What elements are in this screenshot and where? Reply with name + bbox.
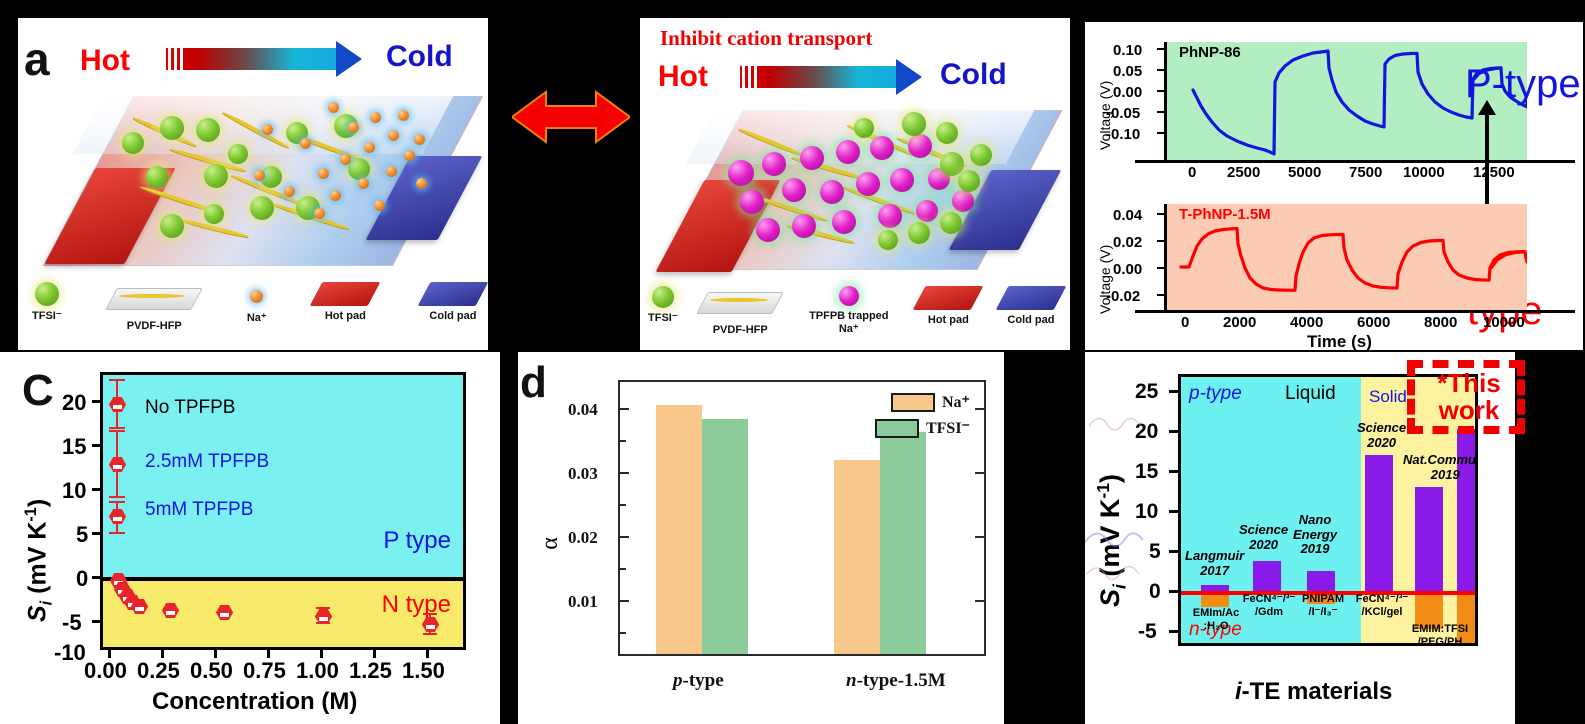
x-tick: 2500 [1227,164,1260,181]
x-tick: 1.50 [402,658,445,684]
x-tick: 0 [1188,164,1196,181]
y-tick: 0.00 [1113,261,1142,278]
bar-p-nat-commun-2019 [1415,487,1443,591]
y-title-close: ) [23,499,51,507]
legend-label-tfsi: TFSI⁻ [926,418,970,438]
orange-sphere-icon [250,290,263,303]
bar-p-nano-energy-2019 [1307,571,1335,591]
y-tick: 0.04 [1113,207,1142,224]
trapped-sodium-sphere [832,210,856,234]
panel-a-hot-label: Hot [80,44,130,78]
error-bar-cap [316,607,330,609]
panel-c-plot-frame: P type N type No TPFPB 2.5mM TPFPB 5mM T… [100,372,466,650]
sodium-ion [318,168,329,179]
legend-item-tfsi: TFSI⁻ [32,282,62,323]
y-tick-mark [1169,390,1178,393]
legend-label: TPFPB trapped Na⁺ [803,310,895,335]
sodium-ion [340,154,351,165]
ref-label-nat-commun: Nat.Commun. 2019 [1403,453,1478,482]
legend-item-pvdf: PVDF-HFP [111,282,197,333]
legend-item-hot-pad: Hot pad [316,282,374,323]
y-title-sub: i [37,601,55,606]
panel-c-scatter: C Si (mV K-1) 20 15 10 5 0 -5 -10 P type… [0,352,500,724]
x-tick: 0.75 [243,658,286,684]
y-tick: 0.02 [1113,234,1142,251]
ref-label-science-kcl: Science 2020 [1357,421,1406,450]
tfsi-sphere [160,214,184,238]
bar-n-type-na [834,460,880,654]
x-category-n-type: n-type-1.5M [846,670,946,692]
error-bar-cap [109,430,125,432]
ref-line-1: Nano [1293,513,1337,528]
y-tick-mark [620,600,629,602]
y-tick-mark [1169,630,1178,633]
trapped-sodium-sphere [820,180,844,204]
p-type-label: p-type [1189,383,1242,405]
panel-d-plot-frame: Na⁺ TFSI⁻ [618,380,986,656]
ref-label-langmuir: Langmuir 2017 [1185,549,1244,578]
hot-pad-icon [913,286,984,310]
panel-d-y-axis-title: α [537,537,564,550]
legend-item-trapped-na: TPFPB trapped Na⁺ [803,286,895,335]
x-tick-mark [214,650,217,658]
y-tick-mark [1157,213,1165,215]
trapped-sodium-sphere [756,218,780,242]
legend-label: Cold pad [429,310,476,323]
tfsi-sphere [854,118,874,138]
mat-line-2: /I⁻/I₃⁻ [1295,606,1351,619]
tfsi-sphere [122,132,144,154]
mat-line-1: EMIm/Ac [1185,607,1247,620]
tfsi-sphere [348,158,370,180]
y-tick: 0.01 [568,592,598,612]
trapped-sodium-sphere [870,136,894,160]
magenta-sphere-icon [839,286,859,306]
ref-label-science-gdm: Science 2020 [1239,523,1288,552]
panel-b-headline: Inhibit cation transport [660,26,872,51]
y-tick-mark [1169,510,1178,513]
panel-a-legend: TFSI⁻ PVDF-HFP Na⁺ Hot pad Cold pad [32,282,482,333]
panel-d-bar-chart: d α 0.04 0.03 0.02 0.01 Na⁺ TFSI⁻ [518,352,1004,724]
sodium-ion [300,138,311,149]
sodium-ion [374,200,385,211]
y-tick: 10 [62,478,86,504]
ref-line-1b: Energy [1293,528,1337,543]
panel-d-legend-na: Na⁺ [891,392,970,412]
y-tick-mark [620,472,629,474]
x-title-prefix: i [1235,678,1242,705]
x-tick: 0.00 [84,658,127,684]
error-bar-cap [109,427,125,429]
bar-n-type-tfsi [880,432,926,654]
sodium-ion [386,166,397,177]
bar-p-type-na [656,405,702,654]
sodium-ion [414,134,425,145]
bar-p-science-2020-kcl [1365,455,1393,591]
y-tick: 0.04 [568,400,598,420]
x-tick: 8000 [1424,314,1457,331]
tfsi-sphere [958,170,980,192]
thermal-gradient-arrow-b [740,66,930,88]
panel-c-y-axis-title: Si (mV K-1) [22,499,56,622]
y-tick: 0.02 [568,528,598,548]
mat-line-1: PNIPAM [1295,593,1351,606]
hot-pad-icon [310,282,381,306]
tfsi-sphere [196,118,220,142]
solid-region-label: Solid [1369,387,1407,407]
y-tick: -0.10 [1106,126,1140,143]
x-tick: 2000 [1223,314,1256,331]
y-tick-mark [1169,470,1178,473]
x-tick: 5000 [1288,164,1321,181]
tfsi-sphere [970,144,992,166]
pvdf-sheet-icon [702,286,778,320]
y-tick: 0.10 [1113,42,1142,59]
legend-label: TFSI⁻ [32,310,62,323]
green-sphere-icon [652,286,674,308]
trapped-sodium-sphere [782,178,806,202]
y-tick-mark [1169,590,1178,593]
tfsi-sphere [228,144,248,164]
error-bar-cap [109,501,125,503]
y-tick-mark [92,400,100,403]
panel-b-schematic: Inhibit cation transport Hot Cold [640,18,1070,350]
trapped-sodium-sphere [908,134,932,158]
y-tick-mark [1157,111,1165,113]
sodium-ion [328,102,339,113]
tfsi-sphere [908,222,930,244]
x-tick-mark [108,650,111,658]
mat-line-1: FeCN⁴⁻/³⁻ [1353,593,1411,606]
y-title-exp: -1 [22,507,40,521]
sodium-ion [348,122,359,133]
legend-label: Cold pad [1007,314,1054,327]
y-tick: 0.00 [1113,84,1142,101]
y-tick-mark [620,632,626,634]
x-tick: 1.25 [349,658,392,684]
material-label-fecn-gdm: FeCN⁴⁻/³⁻ /Gdm [1241,593,1297,618]
bar-p-science-2020-gdm [1253,561,1281,591]
trapped-sodium-sphere [916,200,938,222]
y-tick-mark [620,504,626,506]
trapped-sodium-sphere [856,172,880,196]
y-tick-mark [975,536,984,538]
sodium-ion [398,110,409,121]
ref-line-2: 2020 [1357,436,1406,451]
panel-e-comparison-chart: Si (mV K-1) 25 20 15 10 5 0 -5 p-type Li… [1085,352,1515,724]
sodium-ion [358,178,369,189]
tfsi-sphere [936,122,958,144]
x-tick: 4000 [1290,314,1323,331]
error-bar-cap [109,379,125,381]
sodium-ion [262,124,273,135]
ref-line-2: 2019 [1293,542,1337,557]
y-tick-mark [620,568,626,570]
zero-line [103,577,463,581]
this-work-line-2: work [1423,397,1515,424]
mat-line-2: /KCl/gel [1353,606,1411,619]
x-axis-top [1135,160,1575,163]
panel-c-letter: C [22,366,54,416]
this-work-line-1: *This [1423,370,1515,397]
trapped-sodium-sphere [728,160,754,186]
sodium-ion [370,112,381,123]
x-tick: 10000 [1403,164,1445,181]
green-sphere-icon [35,282,59,306]
trapped-sodium-sphere [762,152,786,176]
y-tick-mark [92,620,100,623]
x-tick: 1.00 [296,658,339,684]
legend-swatch-tfsi [875,419,919,438]
legend-swatch-na [891,393,935,412]
mat-line-1: EMIM:TFSI [1405,623,1475,636]
y-tick-mark [1157,48,1165,50]
annotation-no-tpfpb: No TPFPB [145,397,235,419]
x-tick: 6000 [1357,314,1390,331]
sodium-ion [404,150,415,161]
y-tick-mark [975,408,984,410]
panel-d-legend-tfsi: TFSI⁻ [875,418,970,438]
sodium-ion [388,130,399,141]
y-tick: 15 [62,434,86,460]
voltage-plot-tphnp15m: Voltage (V) 0.04 0.02 0.00 -0.02 T-PhNP-… [1085,190,1583,350]
ref-line-1: Science [1357,421,1406,436]
x-title-rest: -TE materials [1242,678,1393,705]
y-tick-mark [1169,430,1178,433]
x-tick: 0 [1181,314,1189,331]
x-tick: 7500 [1349,164,1382,181]
legend-label-na: Na⁺ [942,392,970,412]
y-tick-mark [1157,90,1165,92]
n-type-region-label: N type [382,591,451,619]
plot-title-bottom: T-PhNP-1.5M [1179,206,1271,223]
annotation-5mm-tpfpb: 5mM TPFPB [145,499,253,521]
y-tick: -5 [62,610,82,636]
legend-label: Na⁺ [247,312,267,325]
y-tick-mark [92,488,100,491]
panel-d-letter: d [520,358,547,408]
y-title-unit: (mV K [23,522,51,601]
y-tick: 5 [76,522,88,548]
trapped-sodium-sphere [740,190,764,214]
y-tick-mark [1157,69,1165,71]
panel-a-cold-label: Cold [386,40,453,74]
tfsi-sphere [878,230,898,250]
y-tick: 0.03 [568,464,598,484]
trapped-sodium-sphere [800,146,824,170]
legend-label: PVDF-HFP [127,320,182,333]
p-type-region-label: P type [383,527,451,555]
liquid-region-label: Liquid [1285,383,1336,405]
y-tick-mark [92,532,100,535]
x-tick: 0.25 [137,658,180,684]
panel-b-hot-label: Hot [658,60,708,94]
x-tick-mark [161,650,164,658]
ref-line-1: Science [1239,523,1288,538]
annotation-2p5mm-tpfpb: 2.5mM TPFPB [145,451,269,473]
legend-label: Hot pad [325,310,366,323]
voltage-vs-time-panel: Voltage (V) 0.10 0.05 0.00 -0.05 -0.10 P… [1085,22,1583,350]
legend-label: Hot pad [928,314,969,327]
material-label-emim-ac: EMIm/Ac :H₂O [1185,607,1247,632]
y-tick-mark [620,536,629,538]
thermal-gradient-arrow-a [166,48,366,70]
panel-b-cold-label: Cold [940,58,1007,92]
ref-line-2: 2020 [1239,538,1288,553]
y-tick-mark [620,408,629,410]
y-tick: 5 [1149,540,1161,564]
trapped-sodium-sphere [890,168,914,192]
x-axis-bottom [1135,310,1575,313]
cold-pad-icon [418,282,489,306]
bar-n-langmuir-2017 [1201,595,1229,607]
ref-line-2: 2019 [1403,468,1478,483]
ref-line-1: Langmuir [1185,549,1244,564]
ref-line-1: Nat.Commun. [1403,453,1478,468]
legend-item-hot-pad: Hot pad [919,286,977,327]
squiggle-decoration-icon [1085,392,1145,592]
panel-c-x-axis-title: Concentration (M) [152,688,357,716]
trapped-sodium-sphere [792,214,816,238]
material-label-fecn-kcl: FeCN⁴⁻/³⁻ /KCl/gel [1353,593,1411,618]
mat-line-2: /Gdm [1241,606,1297,619]
x-category-p-type: p-type [673,670,724,692]
y-tick: -5 [1138,620,1157,644]
y-tick: 20 [62,390,86,416]
y-tick: 0 [1149,580,1161,604]
y-tick-mark [92,576,100,579]
bidirectional-arrow-icon [512,84,630,150]
this-work-label: *This work [1423,370,1515,425]
tfsi-sphere [204,204,224,224]
y-tick-mark [1157,240,1165,242]
tfsi-sphere [250,196,274,220]
legend-item-na: Na⁺ [247,282,267,325]
tfsi-sphere [940,212,962,234]
cold-pad-icon [996,286,1067,310]
y-tick-mark [1157,267,1165,269]
y-tick-mark [620,440,626,442]
legend-item-tfsi: TFSI⁻ [648,286,678,325]
sodium-ion [364,142,375,153]
tfsi-sphere [902,112,926,136]
tfsi-sphere [146,166,168,188]
panel-a-letter: a [24,32,50,86]
legend-item-cold-pad: Cold pad [1002,286,1060,327]
sodium-ion [284,186,295,197]
legend-item-pvdf: PVDF-HFP [702,286,778,337]
error-bar-cap [423,613,437,615]
y-tick: 0.05 [1113,63,1142,80]
material-label-emim-tfsi: EMIM:TFSI /PEG/PH [1405,623,1475,646]
y-tick: 0 [76,566,88,592]
bar-p-type-tfsi [702,419,748,654]
x-axis-title: Time (s) [1307,332,1372,352]
x-tick-mark [267,650,270,658]
x-tick: 0.50 [190,658,233,684]
error-bar-cap [423,633,437,635]
trapped-sodium-sphere [952,190,974,212]
y-title-symbol: S [23,605,51,622]
error-bar-cap [109,496,125,498]
x-tick-mark [320,650,323,658]
tfsi-sphere [204,164,228,188]
error-bar-cap [109,532,125,534]
legend-label: PVDF-HFP [713,324,768,337]
ref-label-nano-energy: Nano Energy 2019 [1293,513,1337,557]
x-tick-mark [373,650,376,658]
sodium-ion [314,208,325,219]
mat-line-2: :H₂O [1185,620,1247,633]
legend-label: TFSI⁻ [648,312,678,325]
panel-a-schematic: a Hot Cold [18,18,488,350]
x-tick-mark [426,650,429,658]
y-tick-mark [1157,132,1165,134]
x-tick: 10000 [1483,314,1525,331]
trapped-sodium-sphere [878,204,902,228]
y-tick-mark [1157,294,1165,296]
sodium-ion [416,178,427,189]
pvdf-sheet-icon [111,282,197,316]
mat-line-2: /PEG/PH [1405,636,1475,646]
y-tick-mark [92,444,100,447]
trapped-sodium-sphere [836,140,860,164]
legend-item-cold-pad: Cold pad [424,282,482,323]
material-label-pnipam: PNIPAM /I⁻/I₃⁻ [1295,593,1351,618]
mat-line-1: FeCN⁴⁻/³⁻ [1241,593,1297,606]
y-tick: -10 [54,640,86,666]
y-tick: -0.05 [1106,105,1140,122]
panel-b-legend: TFSI⁻ PVDF-HFP TPFPB trapped Na⁺ Hot pad… [648,286,1060,337]
ref-line-2: 2017 [1185,564,1244,579]
y-tick: -0.02 [1106,288,1140,305]
y-tick-mark [975,472,984,474]
sodium-ion [330,190,341,201]
y-tick-mark [975,600,984,602]
sodium-ion [254,170,265,181]
tfsi-sphere [160,116,184,140]
y-tick-mark [1169,550,1178,553]
panel-e-x-axis-title: i-TE materials [1235,678,1392,706]
plot-title-top: PhNP-86 [1179,44,1241,61]
